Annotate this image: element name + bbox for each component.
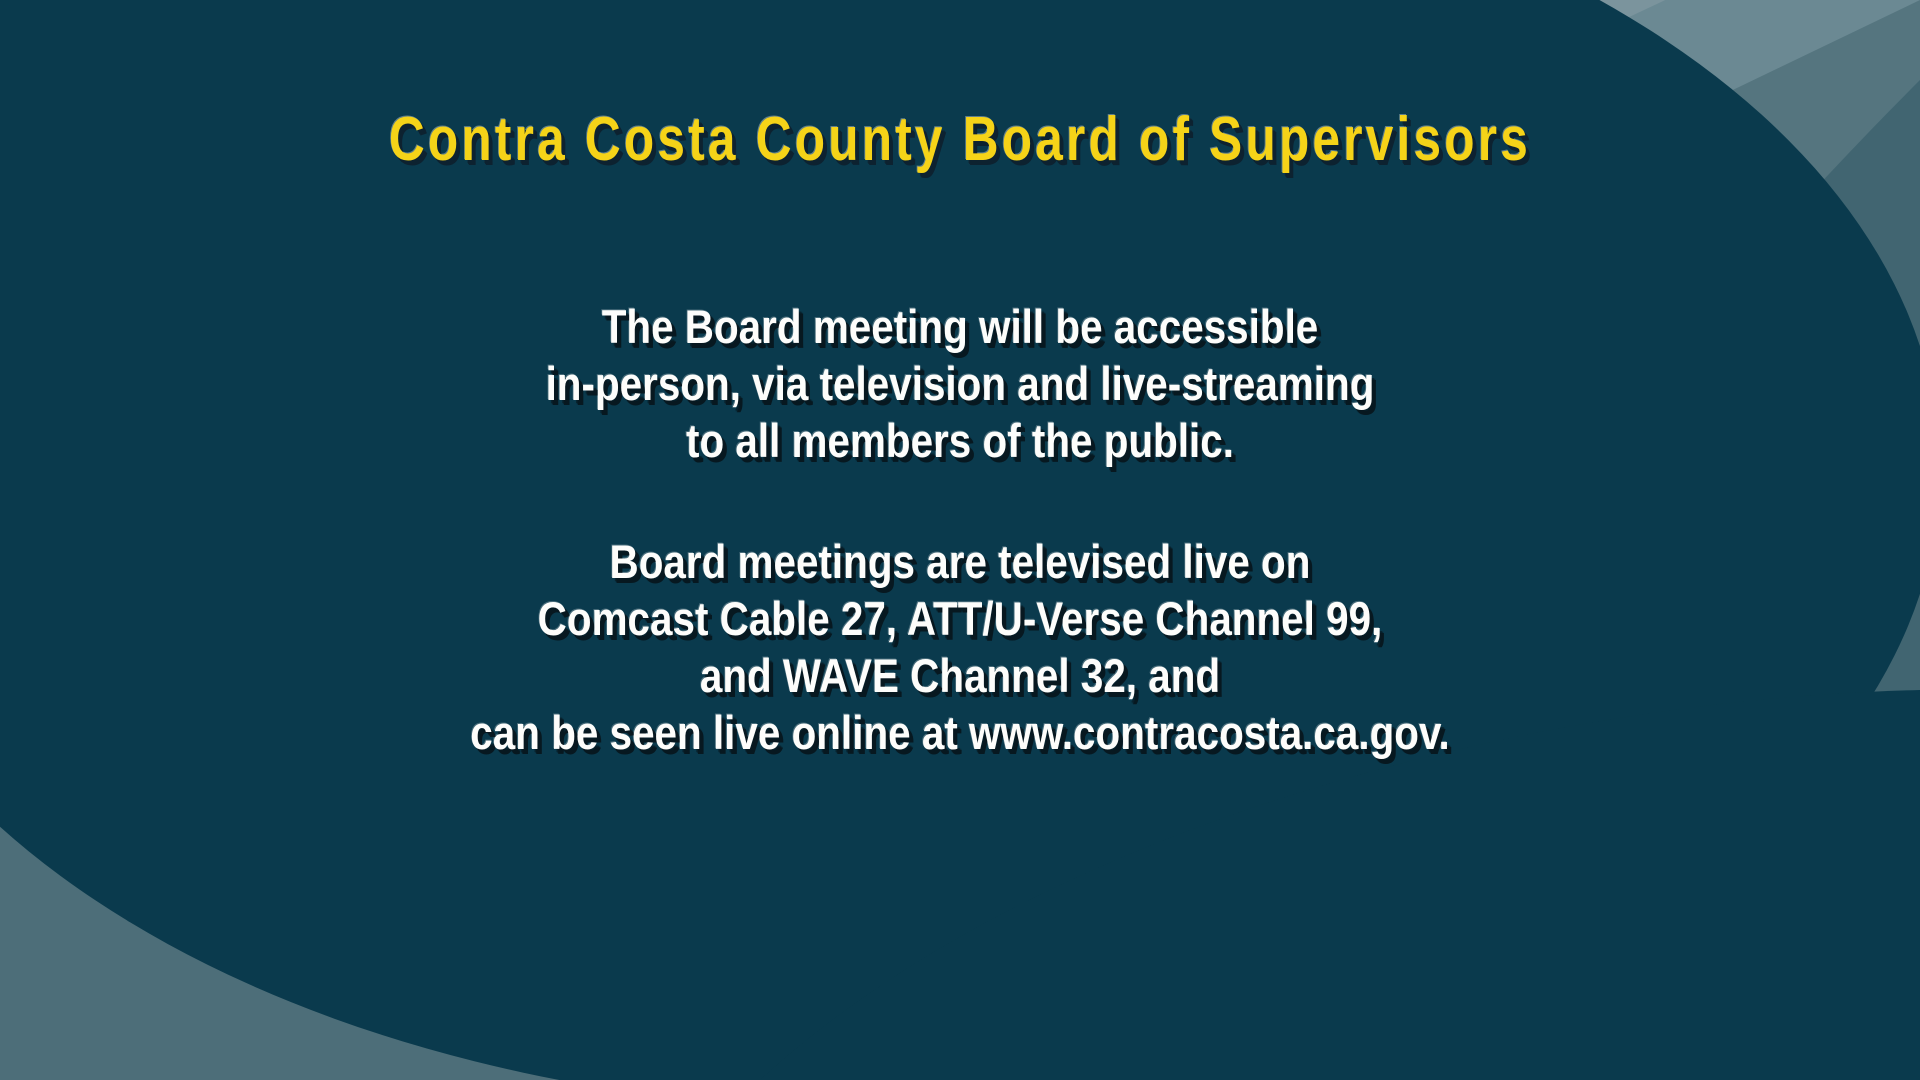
accessibility-notice: The Board meeting will be accessible in-… [0,298,1920,469]
broadcast-line-website: can be seen live online at www.contracos… [134,704,1785,761]
notice-line: in-person, via television and live-strea… [134,355,1785,412]
notice-line: The Board meeting will be accessible [134,298,1785,355]
broadcast-line: and WAVE Channel 32, and [134,647,1785,704]
notice-line: to all members of the public. [134,412,1785,469]
broadcast-slide: Contra Costa County Board of Supervisors… [0,0,1920,1080]
broadcast-notice: Board meetings are televised live on Com… [0,533,1920,761]
page-title: Contra Costa County Board of Supervisors [192,104,1728,175]
slide-content: Contra Costa County Board of Supervisors… [0,0,1920,1080]
broadcast-line: Comcast Cable 27, ATT/U-Verse Channel 99… [134,590,1785,647]
broadcast-line: Board meetings are televised live on [134,533,1785,590]
